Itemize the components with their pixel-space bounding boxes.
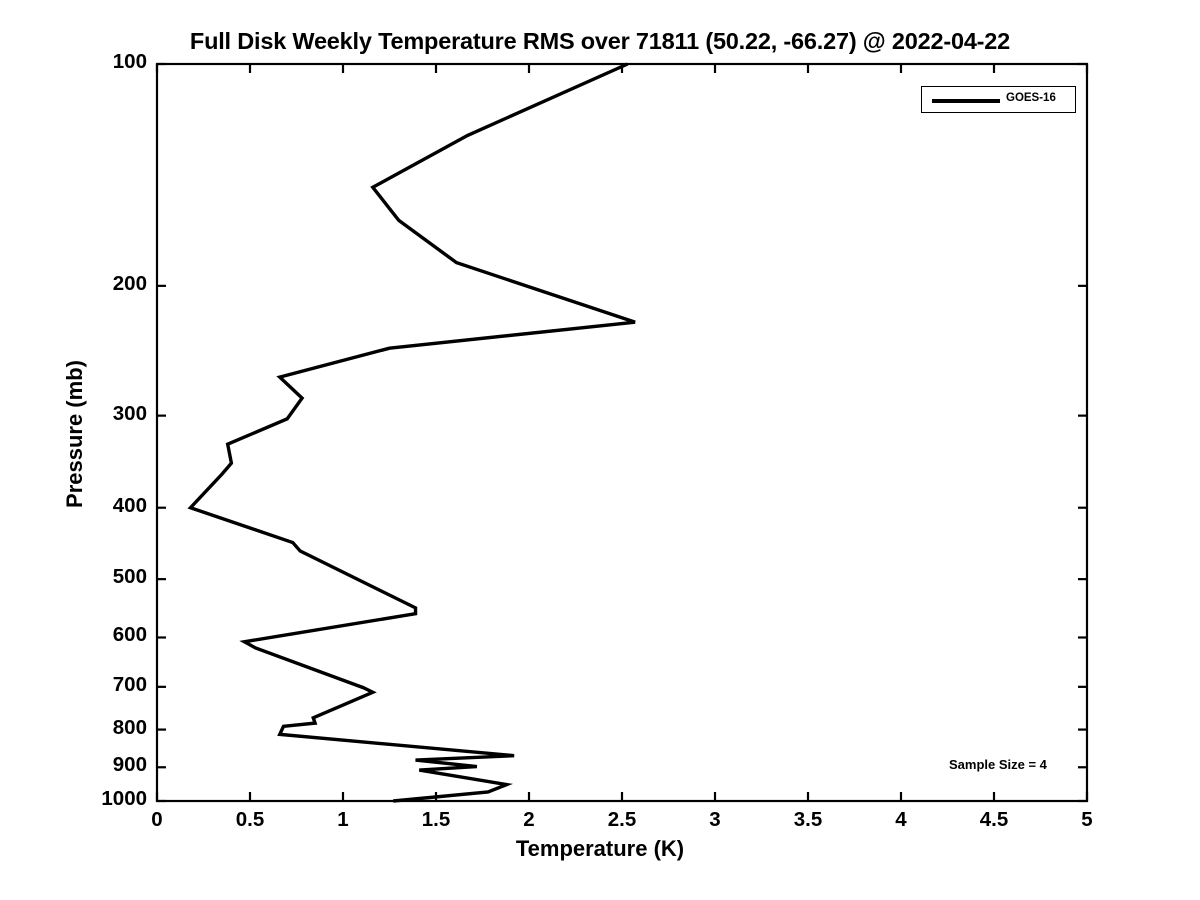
data-series-layer — [190, 64, 635, 801]
x-tick-label: 1 — [303, 808, 383, 832]
y-tick-label: 700 — [27, 673, 147, 697]
x-tick-label: 2.5 — [582, 808, 662, 832]
y-tick-label: 900 — [27, 753, 147, 777]
x-tick-label: 4.5 — [954, 808, 1034, 832]
x-axis-title: Temperature (K) — [0, 836, 1200, 862]
x-axis-ticks — [157, 64, 1087, 801]
data-line-goes-16 — [190, 64, 635, 801]
y-tick-label: 200 — [27, 272, 147, 296]
x-tick-label: 3 — [675, 808, 755, 832]
y-tick-label: 500 — [27, 565, 147, 589]
legend[interactable]: GOES-16 — [921, 86, 1076, 113]
x-tick-label: 5 — [1047, 808, 1127, 832]
x-tick-label: 1.5 — [396, 808, 476, 832]
x-tick-label: 3.5 — [768, 808, 848, 832]
x-tick-label: 2 — [489, 808, 569, 832]
x-tick-label: 0.5 — [210, 808, 290, 832]
y-tick-label: 300 — [27, 402, 147, 426]
axis-frame — [157, 64, 1087, 801]
sample-size-annotation: Sample Size = 4 — [949, 757, 1047, 772]
legend-line-swatch-goes-16 — [932, 99, 1000, 103]
y-tick-label: 600 — [27, 623, 147, 647]
y-tick-label: 1000 — [27, 787, 147, 811]
x-tick-label: 4 — [861, 808, 941, 832]
y-tick-label: 800 — [27, 716, 147, 740]
legend-label-goes-16: GOES-16 — [1006, 92, 1056, 104]
chart-figure: Full Disk Weekly Temperature RMS over 71… — [0, 0, 1200, 900]
y-axis-ticks — [157, 64, 1087, 801]
y-tick-label: 100 — [27, 50, 147, 74]
y-axis-title: Pressure (mb) — [62, 314, 88, 554]
x-tick-label: 0 — [117, 808, 197, 832]
y-tick-label: 400 — [27, 494, 147, 518]
